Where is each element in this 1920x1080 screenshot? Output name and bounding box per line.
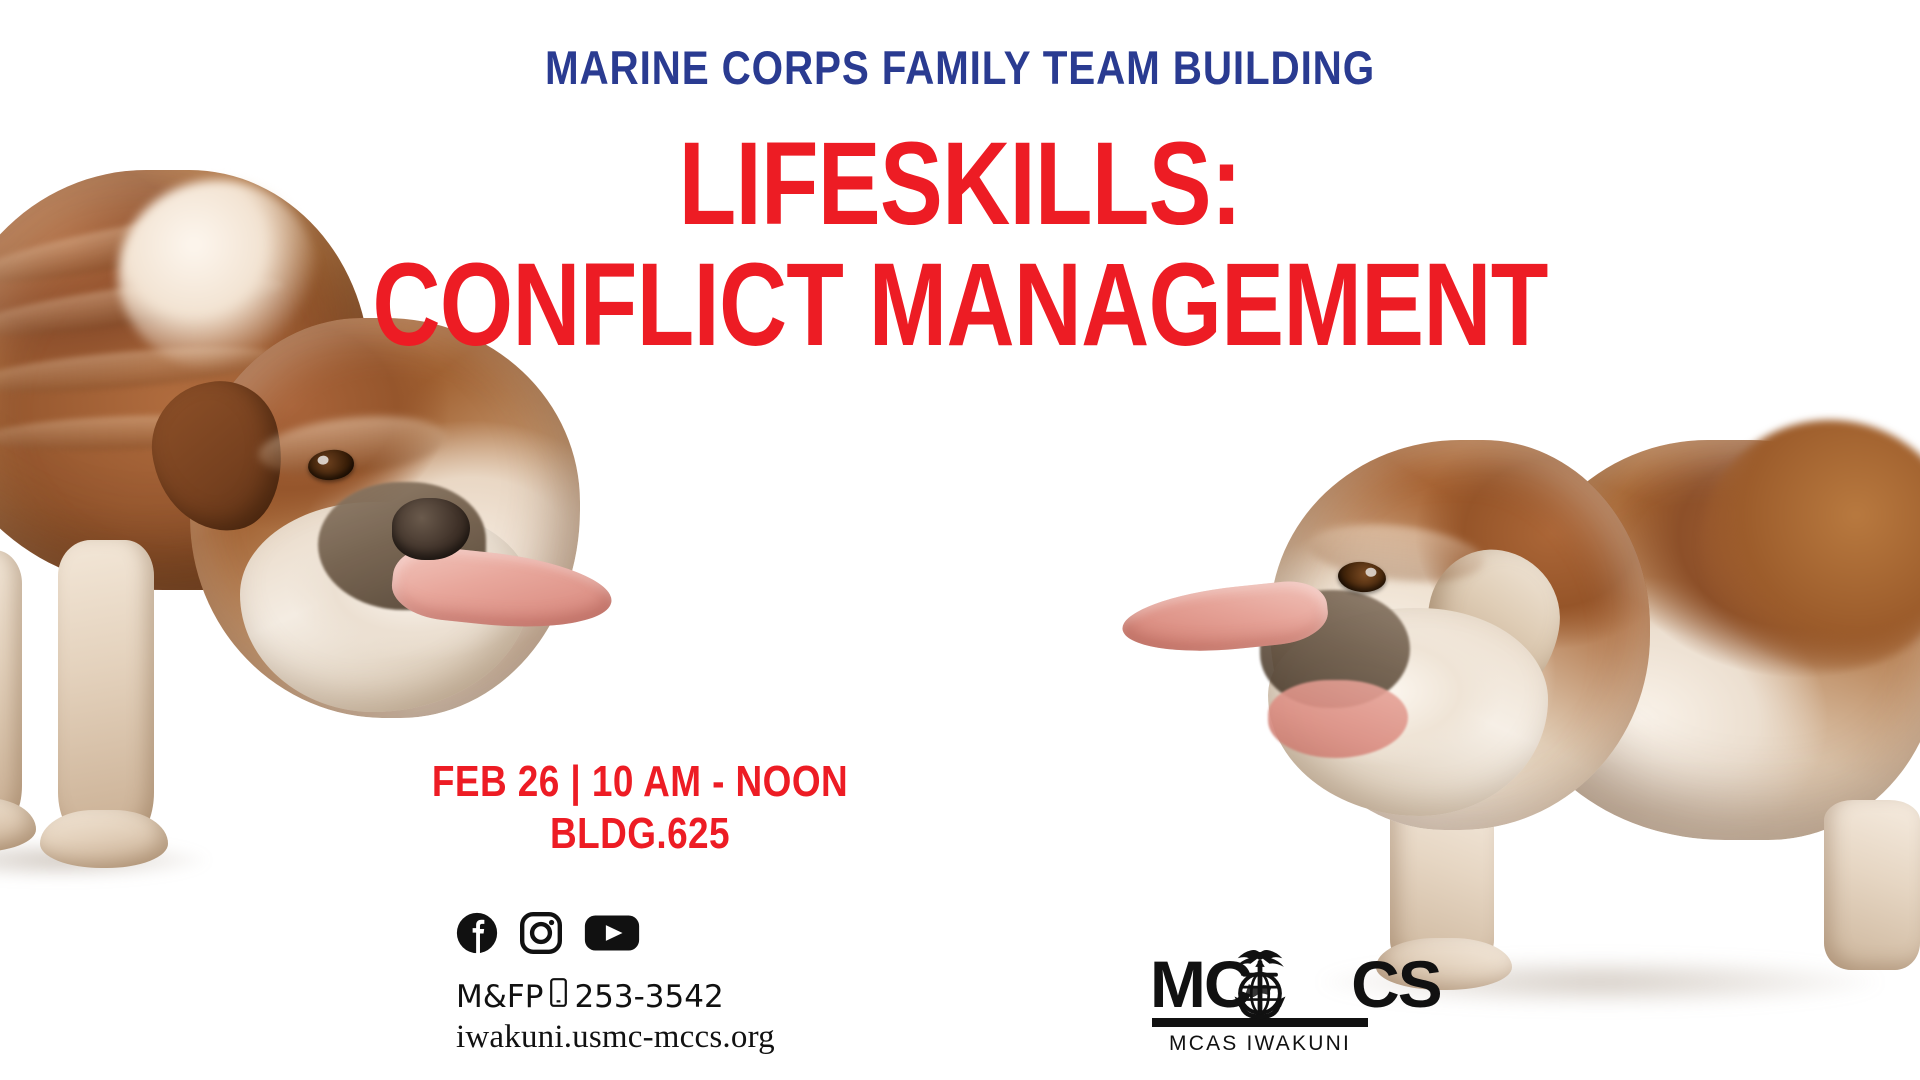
youtube-icon[interactable]: [584, 912, 640, 954]
instagram-icon[interactable]: [520, 912, 562, 954]
event-location: BLDG.625: [405, 808, 875, 860]
youtube-link[interactable]: [584, 912, 640, 954]
mobile-phone-icon: [550, 978, 567, 1016]
contact-website[interactable]: iwakuni.usmc-mccs.org: [456, 1018, 775, 1057]
contact-block: M&FP 253-3542 iwakuni.usmc-mccs.org: [456, 978, 775, 1057]
mccs-logo: MCOOCS: [1152, 952, 1368, 1056]
page-title: LIFESKILLS: CONFLICT MANAGEMENT: [0, 128, 1920, 363]
contact-phone-number[interactable]: 253-3542: [574, 979, 723, 1016]
page-title-line-1: LIFESKILLS:: [192, 128, 1728, 241]
mccs-wordmark: MCOOCS: [1150, 952, 1370, 1016]
event-date-time: FEB 26 | 10 AM - NOON: [405, 756, 875, 808]
event-flyer: MARINE CORPS FAMILY TEAM BUILDING LIFESK…: [0, 0, 1920, 1080]
program-kicker: MARINE CORPS FAMILY TEAM BUILDING: [134, 44, 1785, 91]
contact-phone-row: M&FP 253-3542: [456, 978, 775, 1016]
page-title-line-2: CONFLICT MANAGEMENT: [192, 249, 1728, 362]
social-links: [456, 912, 640, 954]
mccs-installation-label: MCAS IWAKUNI: [1152, 1032, 1368, 1056]
instagram-link[interactable]: [520, 912, 562, 954]
contact-org-label: M&FP: [456, 979, 543, 1016]
event-details: FEB 26 | 10 AM - NOON BLDG.625: [360, 756, 920, 860]
facebook-link[interactable]: [456, 912, 498, 954]
facebook-icon[interactable]: [456, 912, 498, 954]
eagle-globe-anchor-icon: [1220, 947, 1300, 1025]
mccs-wordmark-right: CS: [1351, 947, 1440, 1021]
